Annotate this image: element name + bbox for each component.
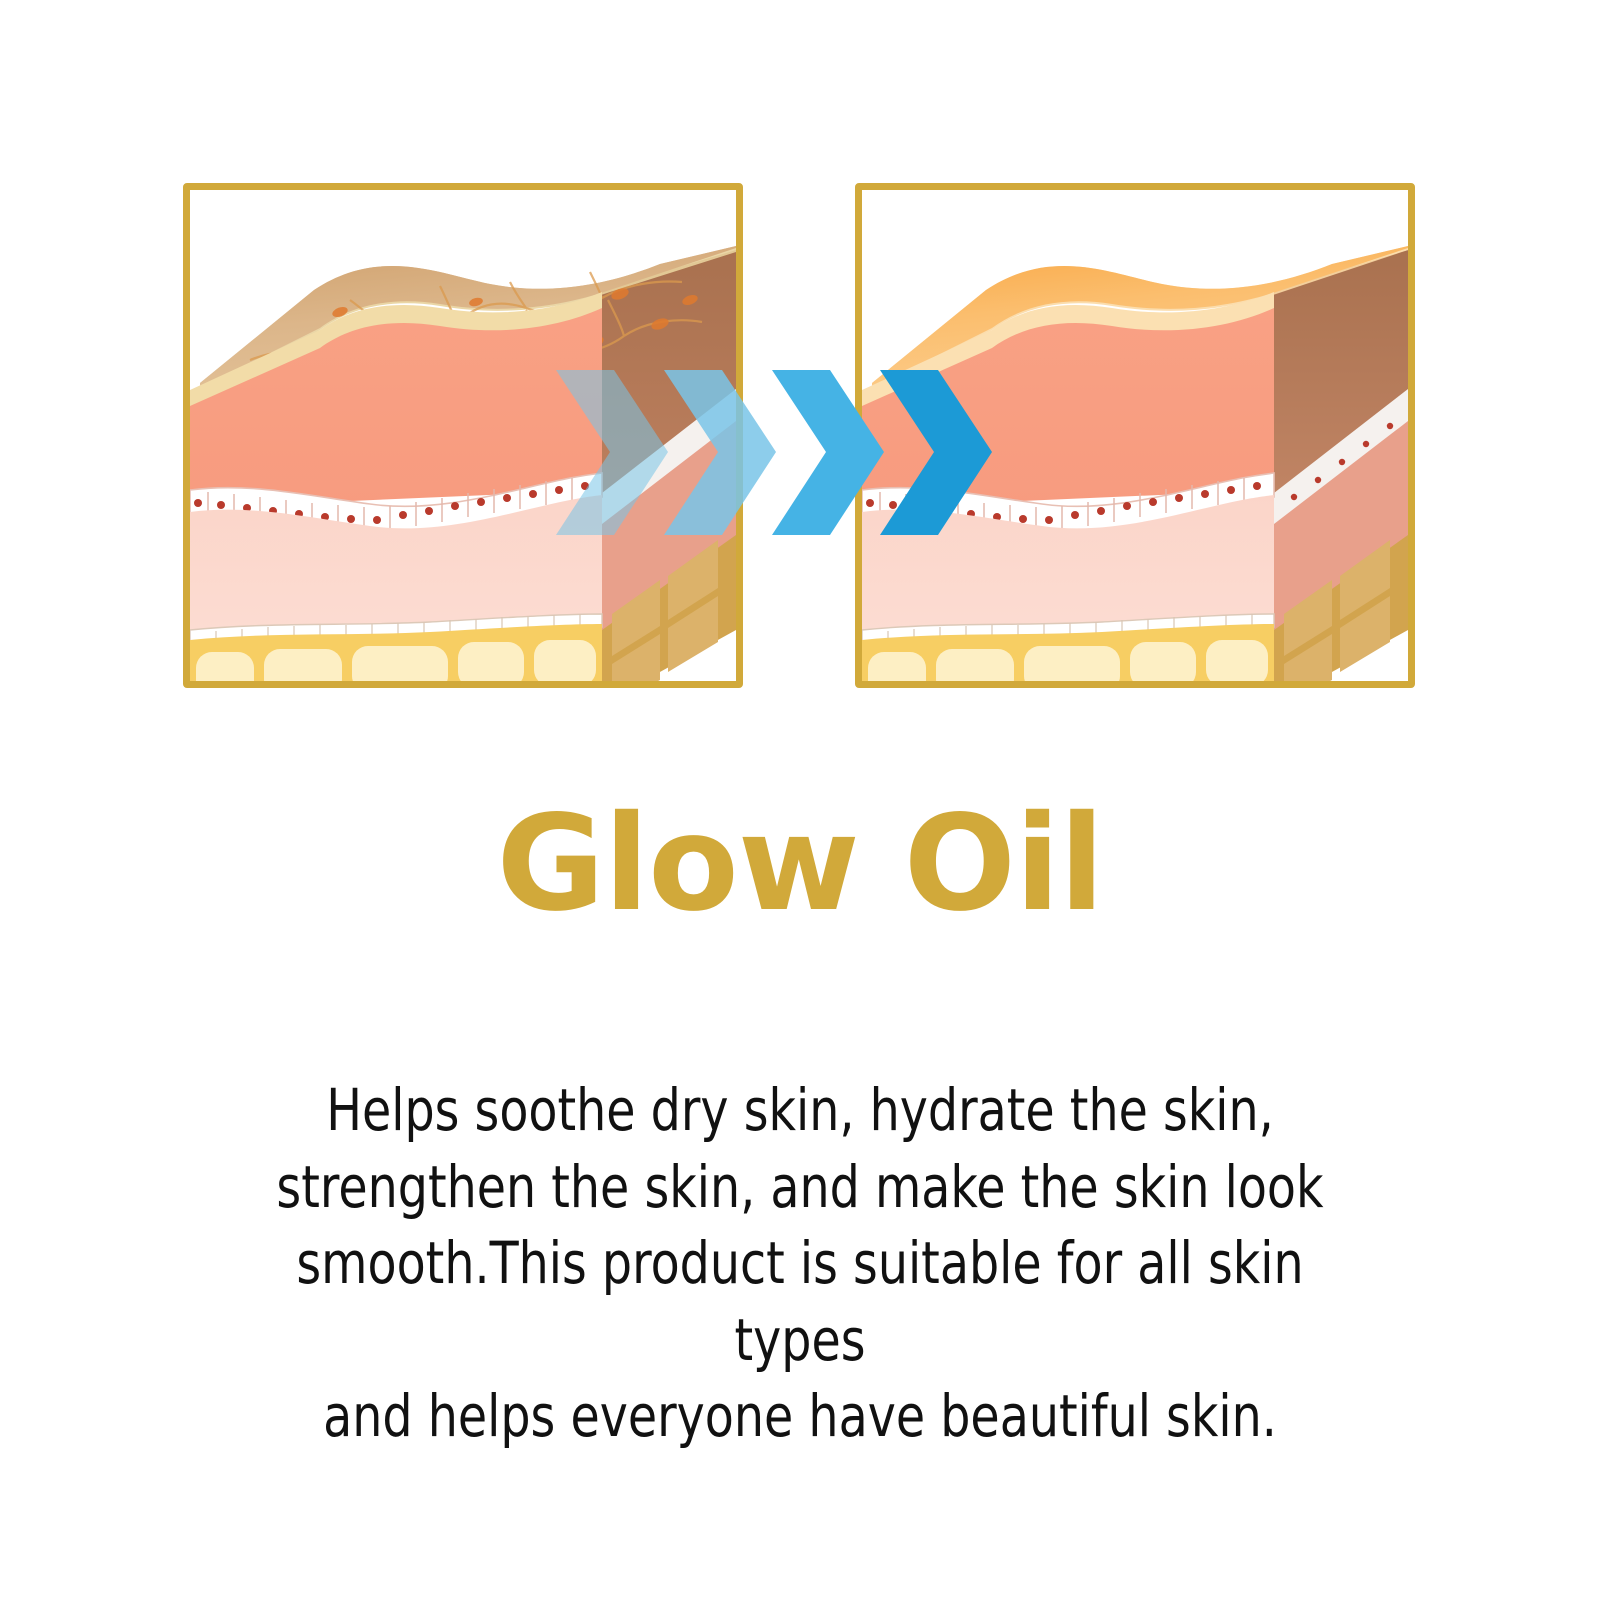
after-panel-image <box>862 190 1408 681</box>
epidermis-layer <box>862 308 1274 508</box>
dry-skin-diagram-icon <box>190 190 736 681</box>
product-description: Helps soothe dry skin, hydrate the skin,… <box>242 1072 1357 1455</box>
epidermis-layer <box>190 308 602 508</box>
healthy-skin-diagram-icon <box>862 190 1408 681</box>
after-panel-healthy-skin[interactable] <box>855 183 1415 688</box>
before-panel-dry-skin[interactable] <box>183 183 743 688</box>
before-after-comparison <box>0 0 1600 720</box>
product-title: Glow Oil <box>0 793 1600 936</box>
before-panel-image <box>190 190 736 681</box>
